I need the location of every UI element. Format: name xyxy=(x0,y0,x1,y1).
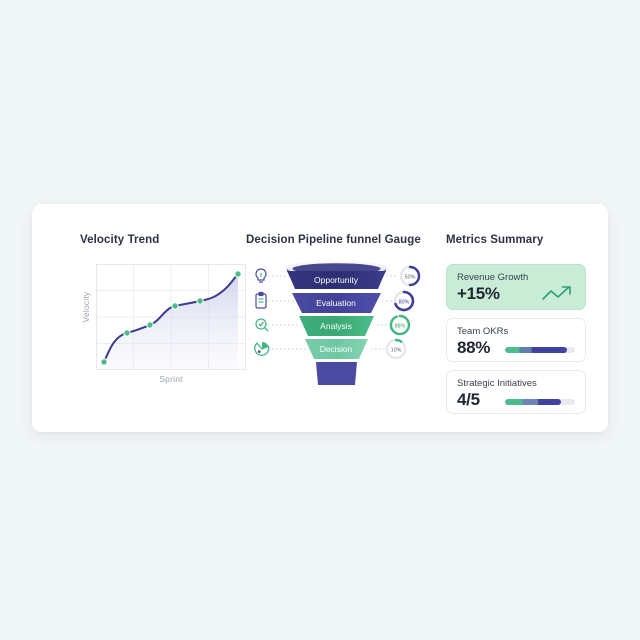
metric-card-revenue-growth[interactable]: Revenue Growth +15% xyxy=(446,264,586,310)
gauge-label-analysis: 88% xyxy=(395,324,406,330)
gauge-analysis[interactable]: 88% xyxy=(391,316,409,334)
data-point[interactable] xyxy=(172,303,178,309)
metric-label-strategic-initiatives: Strategic Initiatives xyxy=(457,378,575,389)
clipboard-icon xyxy=(256,293,266,309)
trend-up-icon xyxy=(541,285,575,303)
funnel-stem xyxy=(316,362,357,385)
velocity-x-axis-label: Sprint xyxy=(96,374,246,384)
metric-value-team-okrs: 88% xyxy=(457,338,490,358)
funnel-figure: Opportunity Evaluation Analysis Decision xyxy=(246,254,432,396)
gauge-decision[interactable]: 10% xyxy=(387,340,405,358)
funnel-gauges: 50% 80% 88% xyxy=(387,267,419,358)
gauge-opportunity[interactable]: 50% xyxy=(401,267,419,285)
progress-bar-team-okrs[interactable] xyxy=(505,347,575,353)
funnel-label-opportunity: Opportunity xyxy=(314,275,359,285)
metric-value-revenue-growth: +15% xyxy=(457,284,500,304)
decision-pipeline-panel: Decision Pipeline funnel Gauge xyxy=(246,234,432,412)
funnel-label-evaluation: Evaluation xyxy=(316,298,356,308)
gauge-label-opportunity: 50% xyxy=(405,275,416,281)
progress-fill-strategic-initiatives xyxy=(505,399,561,405)
velocity-trend-panel: Velocity Trend Velocity Sprint xyxy=(54,234,246,412)
funnel-label-analysis: Analysis xyxy=(320,321,352,331)
metrics-summary-panel: Metrics Summary Revenue Growth +15% Team… xyxy=(432,234,586,412)
magnifier-icon xyxy=(256,319,268,331)
funnel-stage-icons xyxy=(255,269,269,355)
data-point[interactable] xyxy=(101,359,107,365)
data-point[interactable] xyxy=(197,298,203,304)
dashboard-card: Velocity Trend Velocity Sprint xyxy=(32,204,608,432)
metrics-panel-title: Metrics Summary xyxy=(446,234,586,246)
gauge-label-evaluation: 80% xyxy=(399,300,410,306)
gauge-evaluation[interactable]: 80% xyxy=(395,292,413,310)
velocity-chart: Velocity Sprint xyxy=(80,264,246,386)
metric-card-strategic-initiatives[interactable]: Strategic Initiatives 4/5 xyxy=(446,370,586,414)
velocity-panel-title: Velocity Trend xyxy=(80,234,246,246)
progress-fill-team-okrs xyxy=(505,347,567,353)
metric-value-strategic-initiatives: 4/5 xyxy=(457,390,480,410)
metric-label-team-okrs: Team OKRs xyxy=(457,326,575,337)
data-point[interactable] xyxy=(124,330,130,336)
data-point[interactable] xyxy=(147,322,153,328)
metric-label-revenue-growth: Revenue Growth xyxy=(457,272,575,283)
data-point[interactable] xyxy=(235,271,241,277)
metric-card-team-okrs[interactable]: Team OKRs 88% xyxy=(446,318,586,362)
velocity-line-plot xyxy=(96,264,246,370)
lightbulb-icon xyxy=(256,269,266,282)
velocity-y-axis-label: Velocity xyxy=(81,277,91,337)
screen-root: Velocity Trend Velocity Sprint xyxy=(0,0,640,640)
funnel-label-decision: Decision xyxy=(320,344,353,354)
pie-chart-icon xyxy=(255,342,269,355)
funnel-panel-title: Decision Pipeline funnel Gauge xyxy=(246,234,432,246)
progress-bar-strategic-initiatives[interactable] xyxy=(505,399,575,405)
gauge-label-decision: 10% xyxy=(391,348,402,354)
